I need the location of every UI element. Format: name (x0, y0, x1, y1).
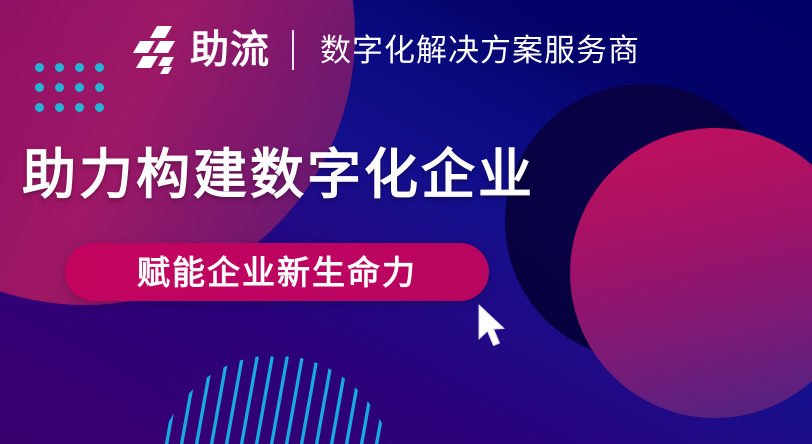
zhuliu-lightning-logo-icon (130, 24, 184, 76)
page-title: 助力构建数字化企业 (22, 148, 535, 202)
header-tagline: 数字化解决方案服务商 (320, 35, 640, 66)
grid-dot (95, 63, 104, 72)
cyan-dot-grid (35, 63, 115, 123)
grid-dot (95, 103, 104, 112)
mouse-pointer-cursor (477, 304, 511, 350)
dark-navy-circle (505, 84, 781, 360)
grid-dot (75, 103, 84, 112)
grid-dot (35, 103, 44, 112)
grid-dot (35, 63, 44, 72)
header-divider (292, 30, 294, 70)
grid-dot (55, 83, 64, 92)
banner-header: 助流 数字化解决方案服务商 (130, 22, 640, 78)
grid-dot (35, 83, 44, 92)
promo-banner: 助流 数字化解决方案服务商 助力构建数字化企业 赋能企业新生命力 (0, 0, 812, 444)
cyan-diagonal-line-fan (150, 352, 400, 444)
grid-dot (75, 83, 84, 92)
grid-dot (95, 83, 104, 92)
grid-dot (55, 63, 64, 72)
logo-wordmark: 助流 (190, 31, 270, 70)
magenta-gradient-circle (570, 128, 812, 418)
cta-pill-button[interactable]: 赋能企业新生命力 (65, 243, 489, 301)
cta-pill-label: 赋能企业新生命力 (137, 256, 417, 289)
grid-dot (55, 103, 64, 112)
grid-dot (75, 63, 84, 72)
